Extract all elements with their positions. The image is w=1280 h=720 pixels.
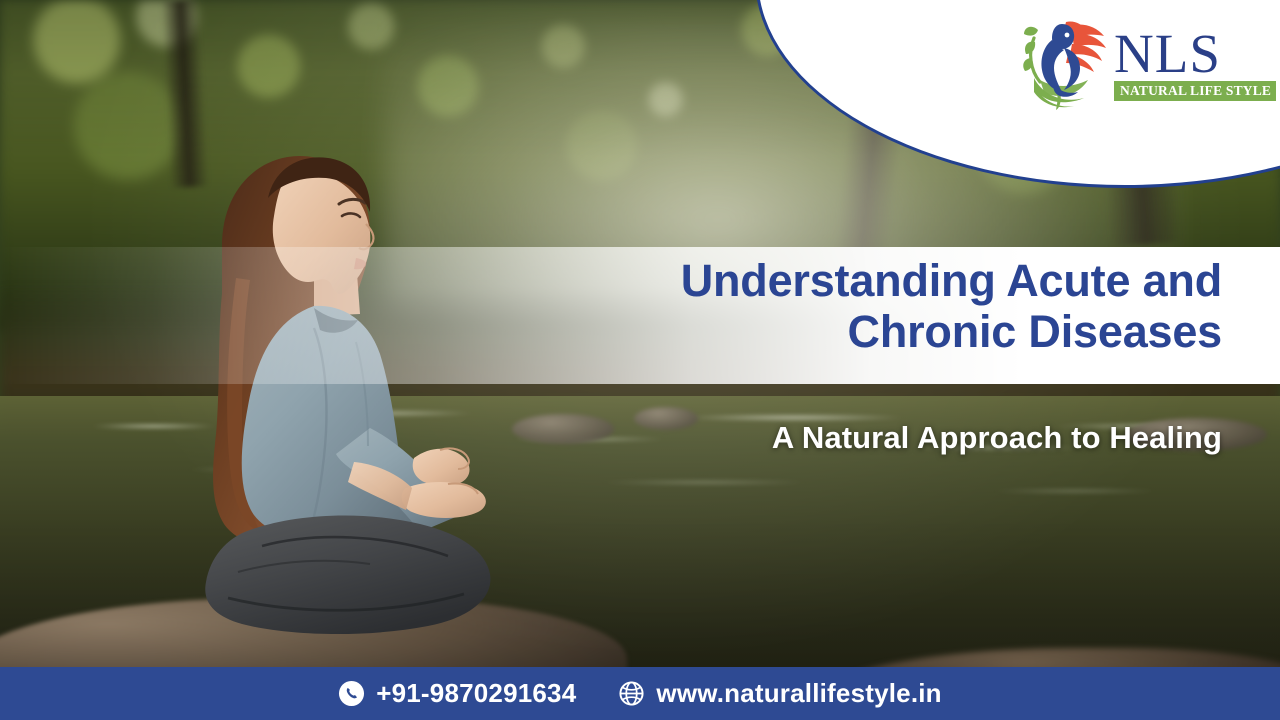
phone-contact[interactable]: +91-9870291634 [338,678,576,709]
page-title: Understanding Acute and Chronic Diseases [462,255,1222,358]
website-contact[interactable]: www.naturallifestyle.in [618,678,941,709]
page-subtitle: A Natural Approach to Healing [462,420,1222,456]
promotional-banner: NLS NATURAL LIFE STYLE Understanding Acu… [0,0,1280,720]
logo-name: NLS [1114,29,1221,80]
title-line-1: Understanding Acute and [681,255,1222,306]
contact-footer-bar: +91-9870291634 www.naturallifestyle.in [0,667,1280,720]
logo-tagline: NATURAL LIFE STYLE [1114,81,1276,101]
leggings [205,515,490,634]
leaf-1 [1025,42,1035,54]
phone-icon [338,680,365,707]
logo-wordmark: NLS NATURAL LIFE STYLE [1114,29,1276,102]
leaf-3 [1024,27,1038,36]
title-line-2: Chronic Diseases [462,306,1222,357]
bird-wing [1064,48,1080,90]
brand-logo[interactable]: NLS NATURAL LIFE STYLE [1018,14,1254,114]
nls-bird-leaf-logo-icon [1018,18,1108,110]
bird-eye [1065,33,1070,38]
globe-icon [618,680,645,707]
phone-number: +91-9870291634 [376,678,576,709]
website-url: www.naturallifestyle.in [656,678,941,709]
meditating-woman-figure [118,128,508,668]
